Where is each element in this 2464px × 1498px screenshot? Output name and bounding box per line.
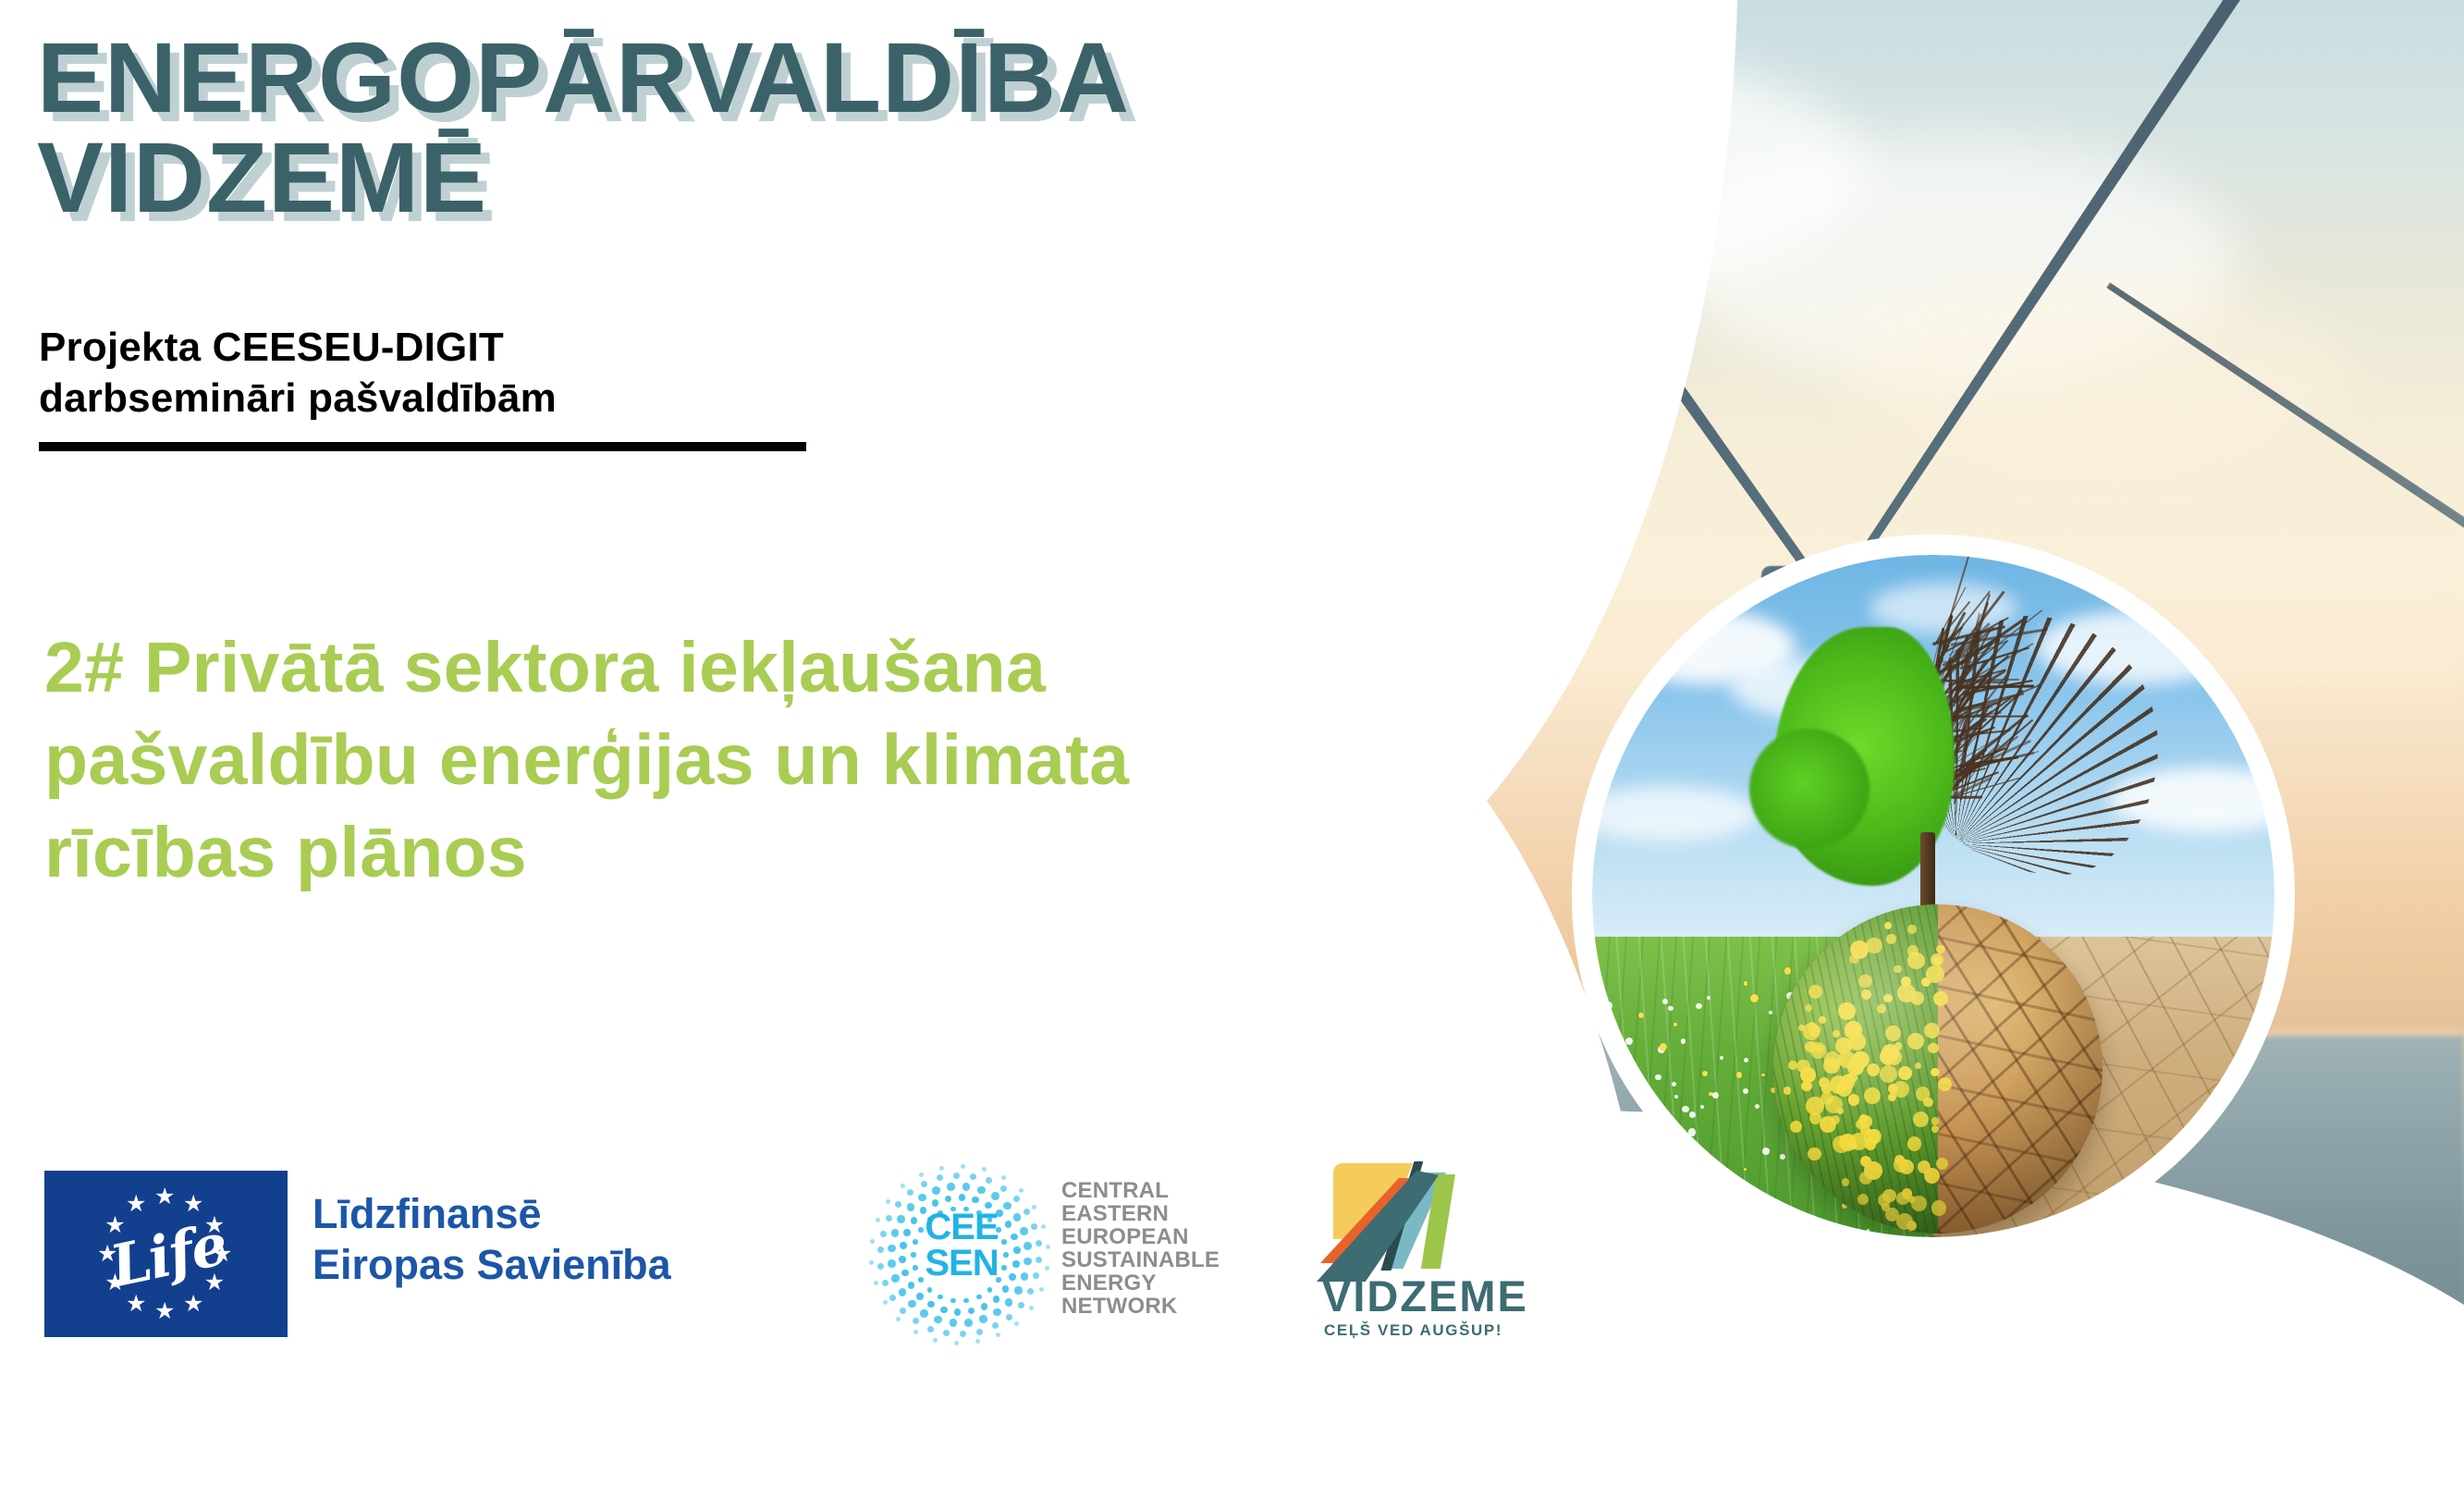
ceesen-dot <box>913 1318 919 1324</box>
ceesen-dot <box>889 1295 896 1301</box>
white-flower <box>1720 1056 1723 1060</box>
vidzeme-logo: VIDZEME CEĻŠ VED AUGŠUP! <box>1296 1160 1555 1349</box>
white-flower <box>1601 1038 1610 1046</box>
ceesen-dot <box>877 1246 884 1253</box>
eu-funding-text: Līdzfinansē Eiropas Savienība <box>313 1189 682 1291</box>
eu-star-icon: ★ <box>154 1300 175 1323</box>
white-flower <box>1700 1105 1704 1109</box>
eu-life-logo: ★★★★★★★★★★★★ Life <box>44 1171 288 1337</box>
ceesen-dot <box>932 1186 940 1195</box>
ceesen-dot <box>961 1164 965 1169</box>
yellow-flower <box>1620 1102 1624 1107</box>
ceesen-dot <box>950 1298 956 1304</box>
white-flower <box>1604 1001 1612 1010</box>
ceesen-dot <box>1033 1272 1039 1279</box>
ceesen-wordmark: CEE SEN <box>906 1209 1017 1282</box>
ceesen-dot <box>937 1174 943 1181</box>
yellow-flower <box>1638 1013 1644 1018</box>
yellow-flower <box>1736 1072 1742 1077</box>
ceesen-dot <box>950 1319 958 1327</box>
white-flower <box>1762 1148 1770 1155</box>
ceesen-word-line-2: SEN <box>906 1246 1017 1282</box>
yellow-flower <box>1744 981 1747 985</box>
ceesen-desc-line-4: SUSTAINABLE <box>1061 1249 1311 1272</box>
ceesen-dot <box>886 1215 892 1222</box>
ceesen-dot <box>977 1186 986 1195</box>
ceesen-dot <box>954 1308 962 1316</box>
ceesen-dot <box>899 1288 907 1296</box>
ceesen-dot <box>918 1194 926 1202</box>
ceesen-dot <box>1014 1286 1023 1295</box>
ceesen-dot <box>882 1280 889 1286</box>
globe-shading <box>1773 904 2102 1234</box>
ceesen-dot <box>907 1189 913 1196</box>
ceesen-dot <box>976 1295 982 1300</box>
ceesen-dot <box>939 1166 944 1171</box>
ceesen-dot <box>976 1329 983 1335</box>
ceesen-desc-line-1: CENTRAL <box>1061 1180 1311 1203</box>
ceesen-desc-line-2: EASTERN <box>1061 1203 1311 1226</box>
ceesen-dot <box>880 1231 887 1237</box>
split-globe <box>1773 904 2102 1234</box>
ceesen-dot <box>1005 1298 1013 1307</box>
ceesen-dot <box>901 1184 905 1188</box>
ceesen-dot <box>874 1281 878 1285</box>
ceesen-dot <box>1013 1196 1020 1202</box>
white-flower <box>1744 1058 1748 1062</box>
ceesen-dot <box>1021 1272 1029 1281</box>
circle-photo-climate <box>1572 534 2295 1258</box>
dead-branches <box>1918 620 2165 888</box>
ceesen-dot <box>886 1199 890 1204</box>
white-flower <box>1681 1038 1686 1043</box>
ceesen-dot <box>1020 1227 1028 1235</box>
ceesen-dot <box>927 1287 933 1293</box>
ceesen-dot <box>883 1300 888 1305</box>
white-flower <box>1625 1038 1633 1045</box>
session-title: 2# Privātā sektora iekļaušana pašvaldību… <box>44 621 1524 899</box>
ceesen-dot <box>1000 1185 1007 1192</box>
white-flower <box>1682 1106 1689 1113</box>
ceesen-dot <box>1018 1302 1024 1308</box>
ceesen-dot <box>986 1177 992 1184</box>
ceesen-dot <box>981 1303 988 1310</box>
cloud <box>1849 277 2348 462</box>
ceesen-dot <box>959 1194 966 1201</box>
ceesen-dot <box>908 1282 915 1289</box>
ceesen-dot <box>954 1341 959 1345</box>
ceesen-word-line-1: CEE <box>906 1209 1017 1246</box>
ceesen-dot <box>932 1199 939 1207</box>
ceesen-dot <box>1039 1287 1044 1292</box>
subtitle-line-2: darbsemināri pašvaldībām <box>39 373 871 424</box>
white-flower <box>1769 1011 1772 1014</box>
ceesen-dot <box>1006 1314 1012 1320</box>
page-title-line-2: VIDZEMĒ <box>37 128 1350 227</box>
yellow-flower <box>1660 1043 1667 1050</box>
ceesen-dot <box>933 1338 938 1343</box>
subtitle: Projekta CEESEU-DIGIT darbsemināri pašva… <box>39 322 871 424</box>
ceesen-dot <box>1031 1223 1037 1230</box>
ceesen-dot <box>1029 1306 1034 1310</box>
ceesen-dot <box>940 1307 948 1314</box>
white-flower <box>1662 999 1668 1004</box>
ceesen-dot <box>876 1218 880 1222</box>
ceesen-dot <box>1041 1224 1046 1229</box>
white-flower <box>1655 1074 1661 1081</box>
ceesen-dot <box>1046 1245 1050 1249</box>
ceesen-dot <box>1045 1266 1049 1271</box>
white-flower <box>1712 1092 1719 1099</box>
ceesen-dot <box>1002 1285 1010 1293</box>
ceesen-dot <box>982 1167 987 1172</box>
white-flower <box>1743 1088 1748 1094</box>
ceesen-dot <box>943 1330 950 1336</box>
page-title-line-1: ENERGOPĀRVALDĪBA <box>37 28 1350 128</box>
white-flower <box>1674 1095 1678 1099</box>
ceesen-dot <box>934 1316 942 1324</box>
ceesen-dot <box>968 1308 975 1315</box>
ceesen-dot <box>870 1239 875 1244</box>
white-flower <box>1609 1176 1617 1185</box>
circle-photo-inner <box>1592 555 2274 1237</box>
ceesen-dot <box>927 1326 934 1332</box>
white-flower <box>1688 1128 1697 1136</box>
ceesen-dot <box>869 1260 874 1265</box>
ceesen-dot <box>919 1173 924 1177</box>
yellow-flower <box>1632 1207 1637 1212</box>
ceesen-dot <box>970 1173 976 1180</box>
ceesen-dot <box>1036 1240 1042 1246</box>
subtitle-line-1: Projekta CEESEU-DIGIT <box>39 322 871 373</box>
ceesen-dot <box>992 1322 999 1329</box>
yellow-flower <box>1750 994 1759 1002</box>
white-flower <box>1755 1104 1759 1109</box>
ceesen-dot <box>1014 1321 1019 1326</box>
ceesen-dot <box>877 1263 884 1270</box>
ceesen-dot <box>987 1287 993 1293</box>
ceesen-dot <box>888 1245 896 1253</box>
white-flower <box>1628 1058 1633 1062</box>
ceesen-desc-line-5: ENERGY <box>1061 1272 1311 1295</box>
ceesen-dot <box>921 1181 927 1187</box>
ceesen-dot <box>962 1183 971 1191</box>
ceesen-dot <box>1024 1242 1032 1250</box>
ceesen-dot <box>947 1183 955 1191</box>
ceesen-dot <box>900 1308 906 1314</box>
ceesen-dot <box>1036 1257 1042 1263</box>
ceesen-dot <box>891 1229 900 1237</box>
ceesen-dot <box>960 1331 966 1337</box>
white-flower <box>1595 1114 1600 1120</box>
ceesen-dot <box>1019 1188 1024 1193</box>
ceesen-dot <box>899 1256 906 1263</box>
ceesen-dot <box>964 1319 973 1327</box>
yellow-flower <box>1702 1071 1708 1076</box>
session-title-line-2: pašvaldību enerģijas un klimata <box>44 714 1524 806</box>
white-flower <box>1601 1065 1605 1069</box>
white-flower <box>1707 996 1710 1000</box>
ceesen-dot <box>993 1295 1000 1303</box>
white-flower <box>1760 1209 1764 1212</box>
ceesen-dot <box>1024 1258 1032 1266</box>
ceesen-dot <box>891 1274 900 1283</box>
ceesen-dot <box>888 1259 896 1268</box>
subtitle-underline <box>39 442 806 451</box>
ceesen-dot <box>975 1339 980 1344</box>
ceesen-dot <box>913 1330 918 1334</box>
ceesen-dot <box>972 1197 979 1204</box>
yellow-flower <box>1722 1208 1731 1216</box>
ceesen-description: CENTRAL EASTERN EUROPEAN SUSTAINABLE ENE… <box>1061 1180 1311 1319</box>
ceesen-desc-line-3: EUROPEAN <box>1061 1226 1311 1249</box>
yellow-flower <box>1673 1023 1676 1025</box>
eu-star-icon: ★ <box>154 1185 175 1209</box>
ceesen-desc-line-6: NETWORK <box>1061 1295 1311 1319</box>
ceesen-dot <box>896 1317 901 1321</box>
vidzeme-tagline: CEĻŠ VED AUGŠUP! <box>1324 1322 1557 1338</box>
ceesen-dot <box>953 1173 960 1179</box>
ceesen-dot <box>1024 1209 1030 1215</box>
ceesen-dot <box>991 1192 999 1200</box>
ceesen-dot <box>916 1293 924 1300</box>
eu-funding-text-line-2: Eiropas Savienība <box>313 1240 682 1291</box>
ceesen-dot <box>908 1300 916 1308</box>
ceesen-dot <box>993 1308 1001 1317</box>
white-flower <box>1679 1175 1685 1181</box>
eu-funding-text-line-1: Līdzfinansē <box>313 1189 682 1240</box>
session-title-line-1: 2# Privātā sektora iekļaušana <box>44 621 1524 714</box>
ceesen-dot <box>979 1315 987 1323</box>
ceesen-dot <box>895 1201 901 1208</box>
yellow-flower <box>1630 1170 1638 1178</box>
yellow-flower <box>1761 1074 1765 1077</box>
white-flower <box>1668 1006 1673 1011</box>
eu-star-icon: ★ <box>126 1193 146 1216</box>
white-flower <box>1689 1111 1696 1118</box>
ceesen-dot <box>996 1332 1000 1337</box>
ceesen-dot <box>1003 1202 1011 1210</box>
ceesen-dot <box>927 1301 935 1308</box>
ceesen-logo: CEE SEN CENTRAL EASTERN EUROPEAN SUSTAIN… <box>867 1163 1311 1348</box>
ceesen-dot <box>1032 1205 1036 1209</box>
page-title: ENERGOPĀRVALDĪBA VIDZEMĒ <box>37 28 1350 227</box>
white-flower <box>1672 1082 1676 1087</box>
ceesen-dot <box>945 1196 952 1203</box>
vidzeme-ribbon-mark-icon <box>1317 1160 1492 1282</box>
yellow-flower <box>1744 1168 1747 1171</box>
ceesen-dot <box>897 1215 905 1223</box>
white-flower <box>1696 1003 1702 1010</box>
green-tree-canopy-lower <box>1749 729 1869 849</box>
ceesen-dot <box>920 1309 928 1318</box>
ceesen-dot <box>1027 1288 1034 1295</box>
ceesen-dot <box>963 1298 969 1304</box>
ceesen-dot <box>1001 1175 1006 1180</box>
yellow-flower <box>1686 1182 1693 1189</box>
ceesen-dot <box>938 1295 943 1300</box>
vidzeme-wordmark: VIDZEME <box>1322 1274 1555 1318</box>
white-flower <box>1673 1186 1679 1193</box>
session-title-line-3: rīcības plānos <box>44 806 1524 899</box>
